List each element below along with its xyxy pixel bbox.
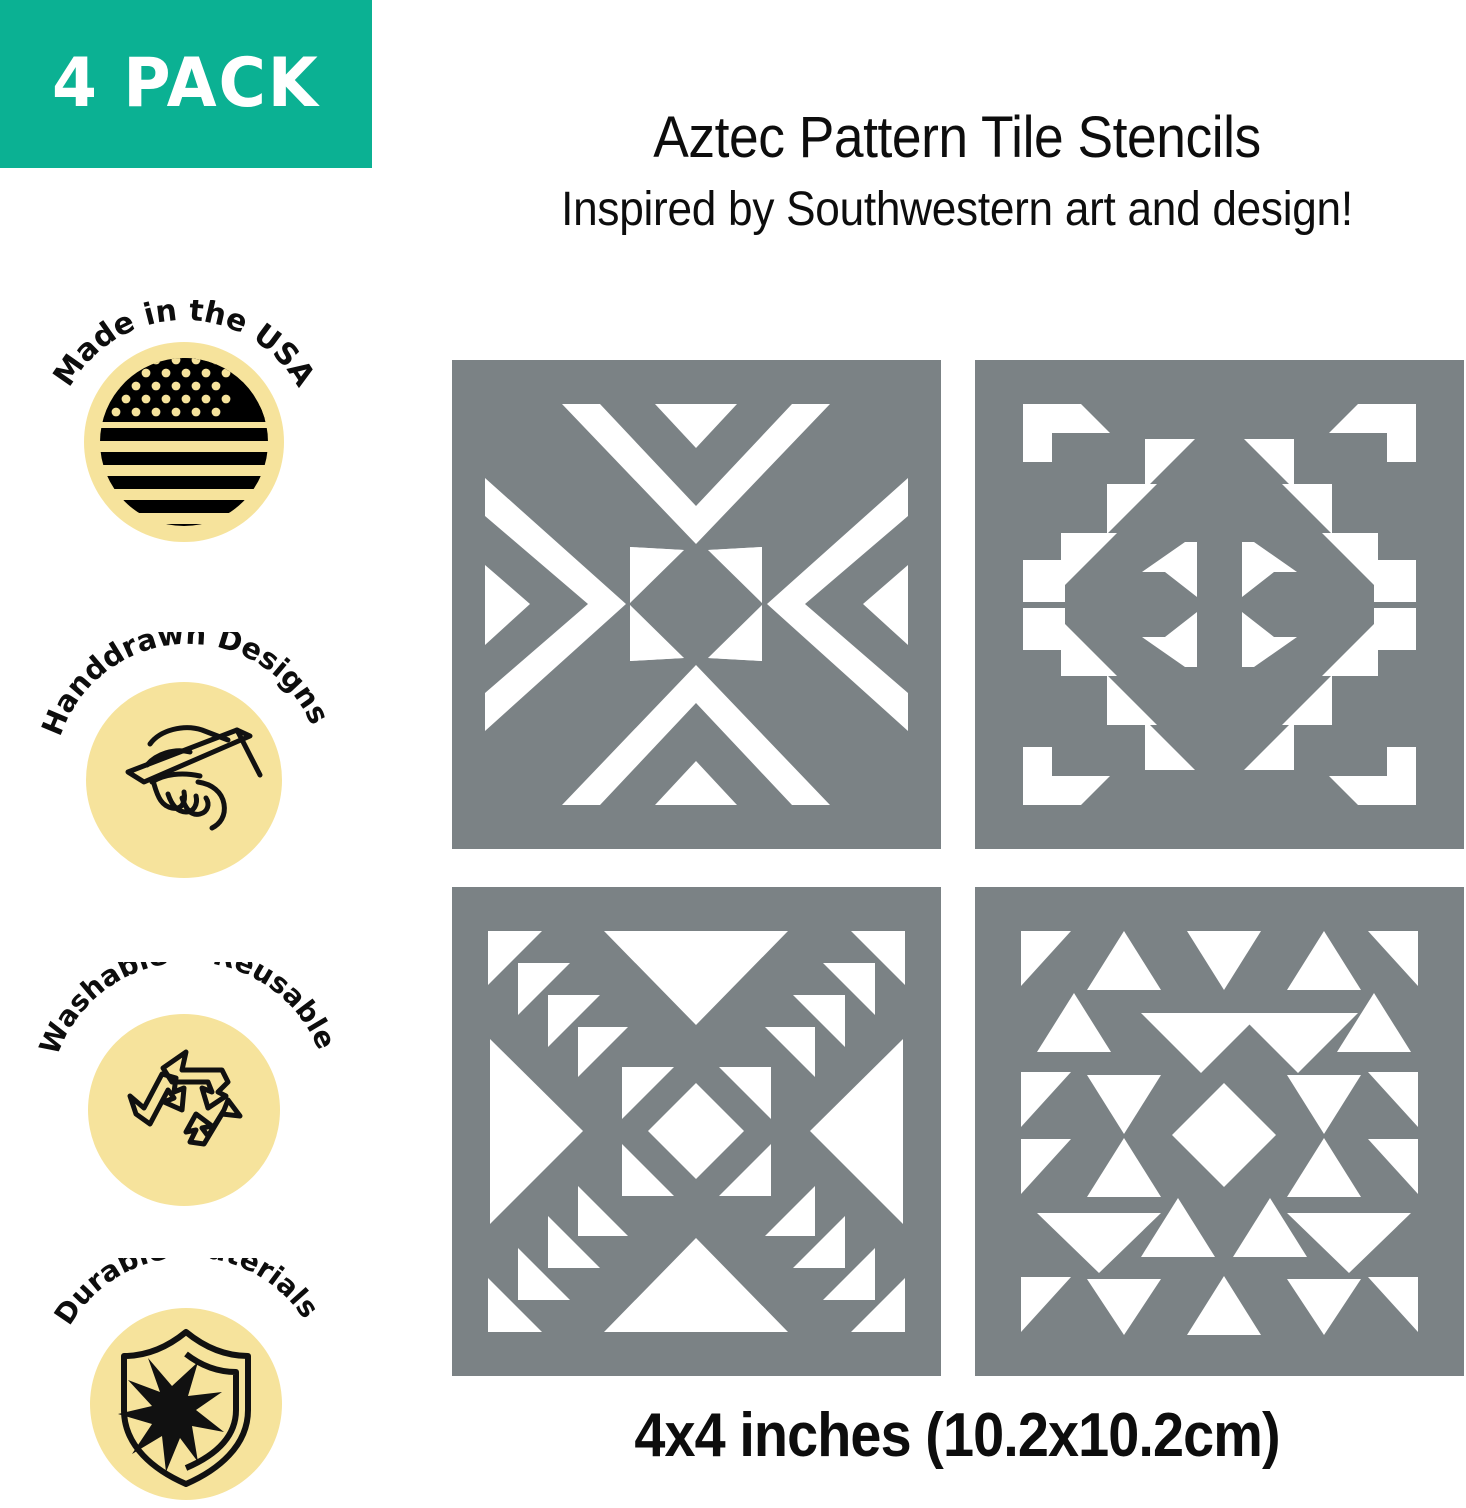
washable-reusable-graphic: Washable + Reusable	[32, 962, 372, 1212]
durable-materials-graphic: Durable Materials	[32, 1258, 372, 1508]
stencil-tile-4	[975, 887, 1464, 1376]
product-subtitle: Inspired by Southwestern art and design!	[492, 185, 1421, 235]
stencil-tile-2	[975, 360, 1464, 849]
stencil-2-pattern	[975, 360, 1464, 849]
size-caption: 4x4 inches (10.2x10.2cm)	[503, 1400, 1412, 1471]
pack-badge-label: 4 PACK	[52, 50, 320, 118]
product-title: Aztec Pattern Tile Stencils	[492, 108, 1421, 169]
feature-badge-washable-reusable: Washable + Reusable	[32, 962, 372, 1212]
feature-badge-durable-materials: Durable Materials	[32, 1258, 372, 1508]
stencil-4-pattern	[975, 887, 1464, 1376]
made-in-usa-graphic: Made in the USA	[32, 300, 372, 550]
stencil-3-pattern	[452, 887, 941, 1376]
stencil-tile-1	[452, 360, 941, 849]
feature-badge-made-in-usa: Made in the USA	[32, 300, 372, 550]
handdrawn-designs-graphic: Handdrawn Designs	[32, 632, 372, 882]
stencil-grid	[452, 360, 1443, 1382]
badge-circle	[86, 682, 282, 878]
headline-block: Aztec Pattern Tile Stencils Inspired by …	[452, 108, 1462, 235]
feature-badge-handdrawn-designs: Handdrawn Designs	[32, 632, 372, 882]
stencil-1-pattern	[452, 360, 941, 849]
stencil-tile-3	[452, 887, 941, 1376]
four-pack-badge: 4 PACK	[0, 0, 372, 168]
